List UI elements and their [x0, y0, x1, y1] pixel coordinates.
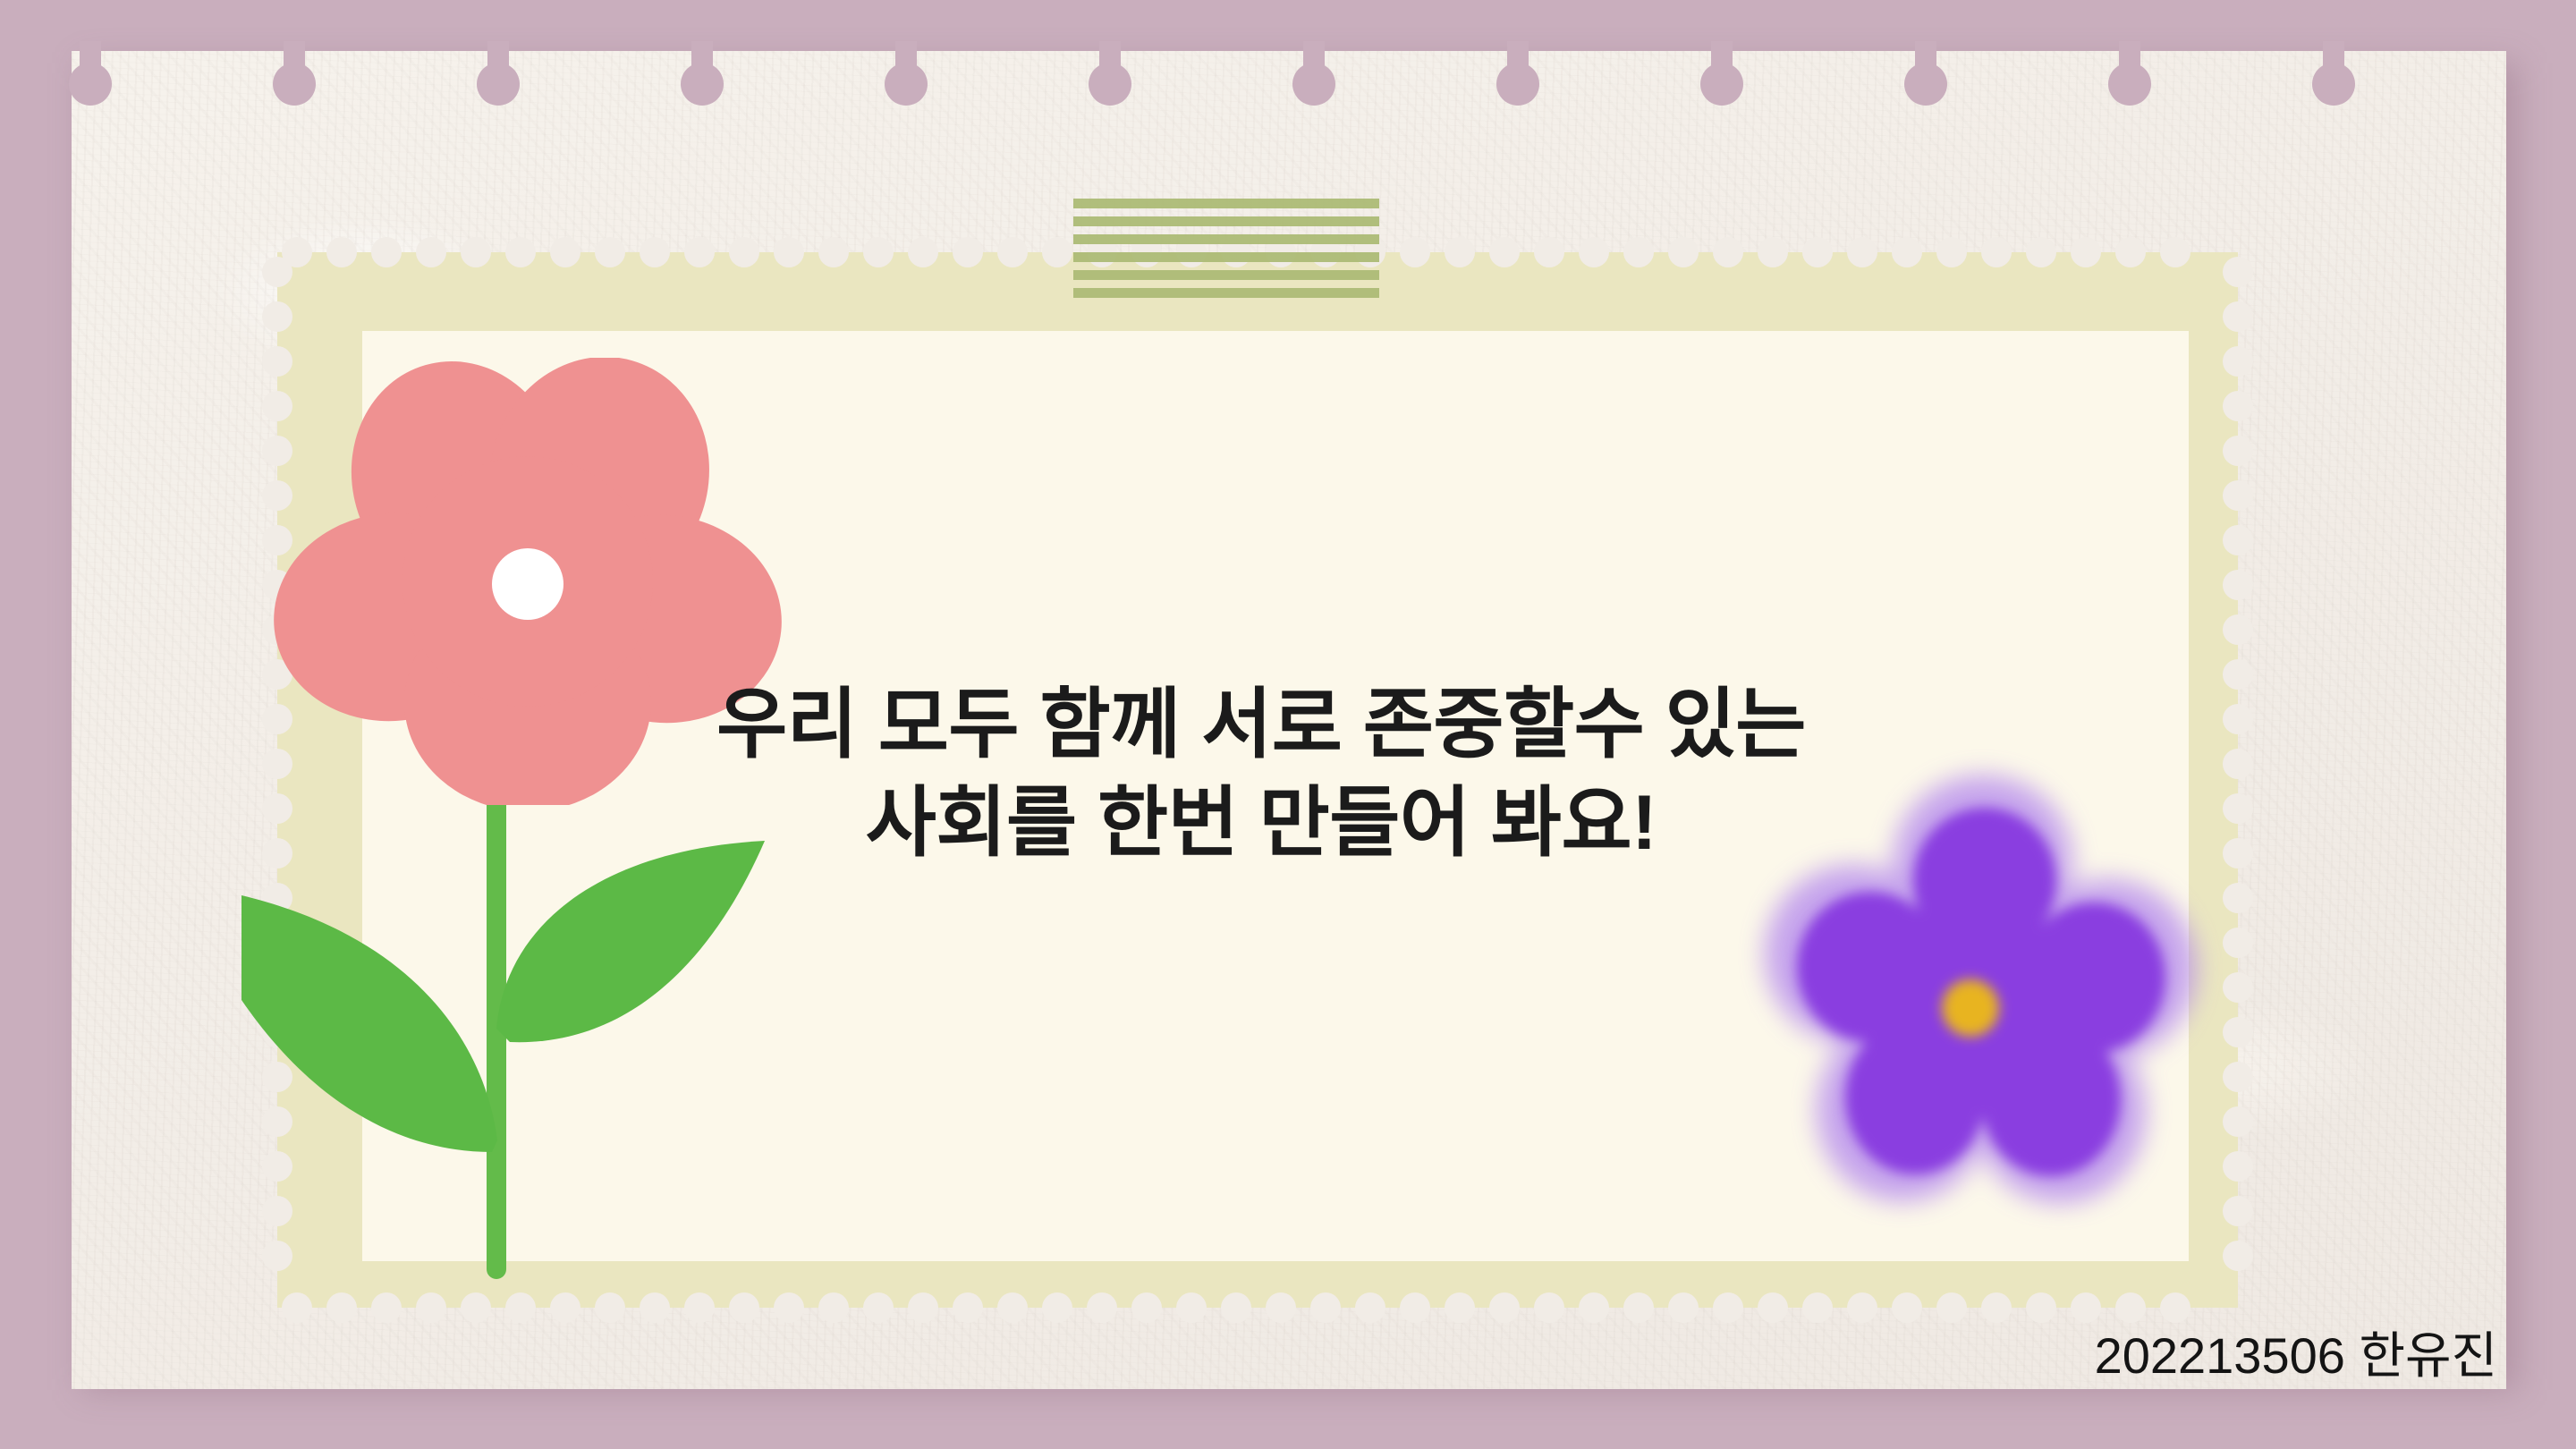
binding-hole-ring: [2108, 63, 2151, 106]
binding-hole-ring: [1700, 63, 1743, 106]
binding-hole-ring: [69, 63, 112, 106]
binding-hole: [1287, 45, 1341, 116]
binding-hole: [2103, 45, 2157, 116]
slide-canvas: 우리 모두 함께 서로 존중할수 있는 사회를 한번 만들어 봐요! 20221…: [0, 0, 2576, 1449]
binding-hole: [267, 45, 321, 116]
binding-hole: [471, 45, 525, 116]
binding-hole: [675, 45, 729, 116]
leaf-left-shape: [241, 884, 497, 1152]
binding-hole-ring: [1904, 63, 1947, 106]
binding-hole: [1899, 45, 1953, 116]
binding-hole: [879, 45, 933, 116]
binding-hole-ring: [2312, 63, 2355, 106]
student-credit: 202213506 한유진: [2095, 1316, 2497, 1388]
binding-hole-ring: [885, 63, 928, 106]
binding-hole-ring: [273, 63, 316, 106]
pink-flower-center: [492, 548, 563, 620]
binding-hole-ring: [681, 63, 724, 106]
purple-flower-center: [1942, 979, 1999, 1037]
page-title: 우리 모두 함께 서로 존중할수 있는 사회를 한번 만들어 봐요!: [501, 675, 2021, 872]
binding-hole: [2307, 45, 2360, 116]
binding-hole: [1083, 45, 1137, 116]
striped-tape-icon: [1073, 199, 1379, 299]
binding-hole-ring: [1496, 63, 1539, 106]
binding-hole-ring: [477, 63, 520, 106]
binding-hole: [64, 45, 117, 116]
binding-hole: [1491, 45, 1545, 116]
binding-hole-ring: [1292, 63, 1335, 106]
binding-hole-ring: [1089, 63, 1131, 106]
binding-hole: [1695, 45, 1749, 116]
